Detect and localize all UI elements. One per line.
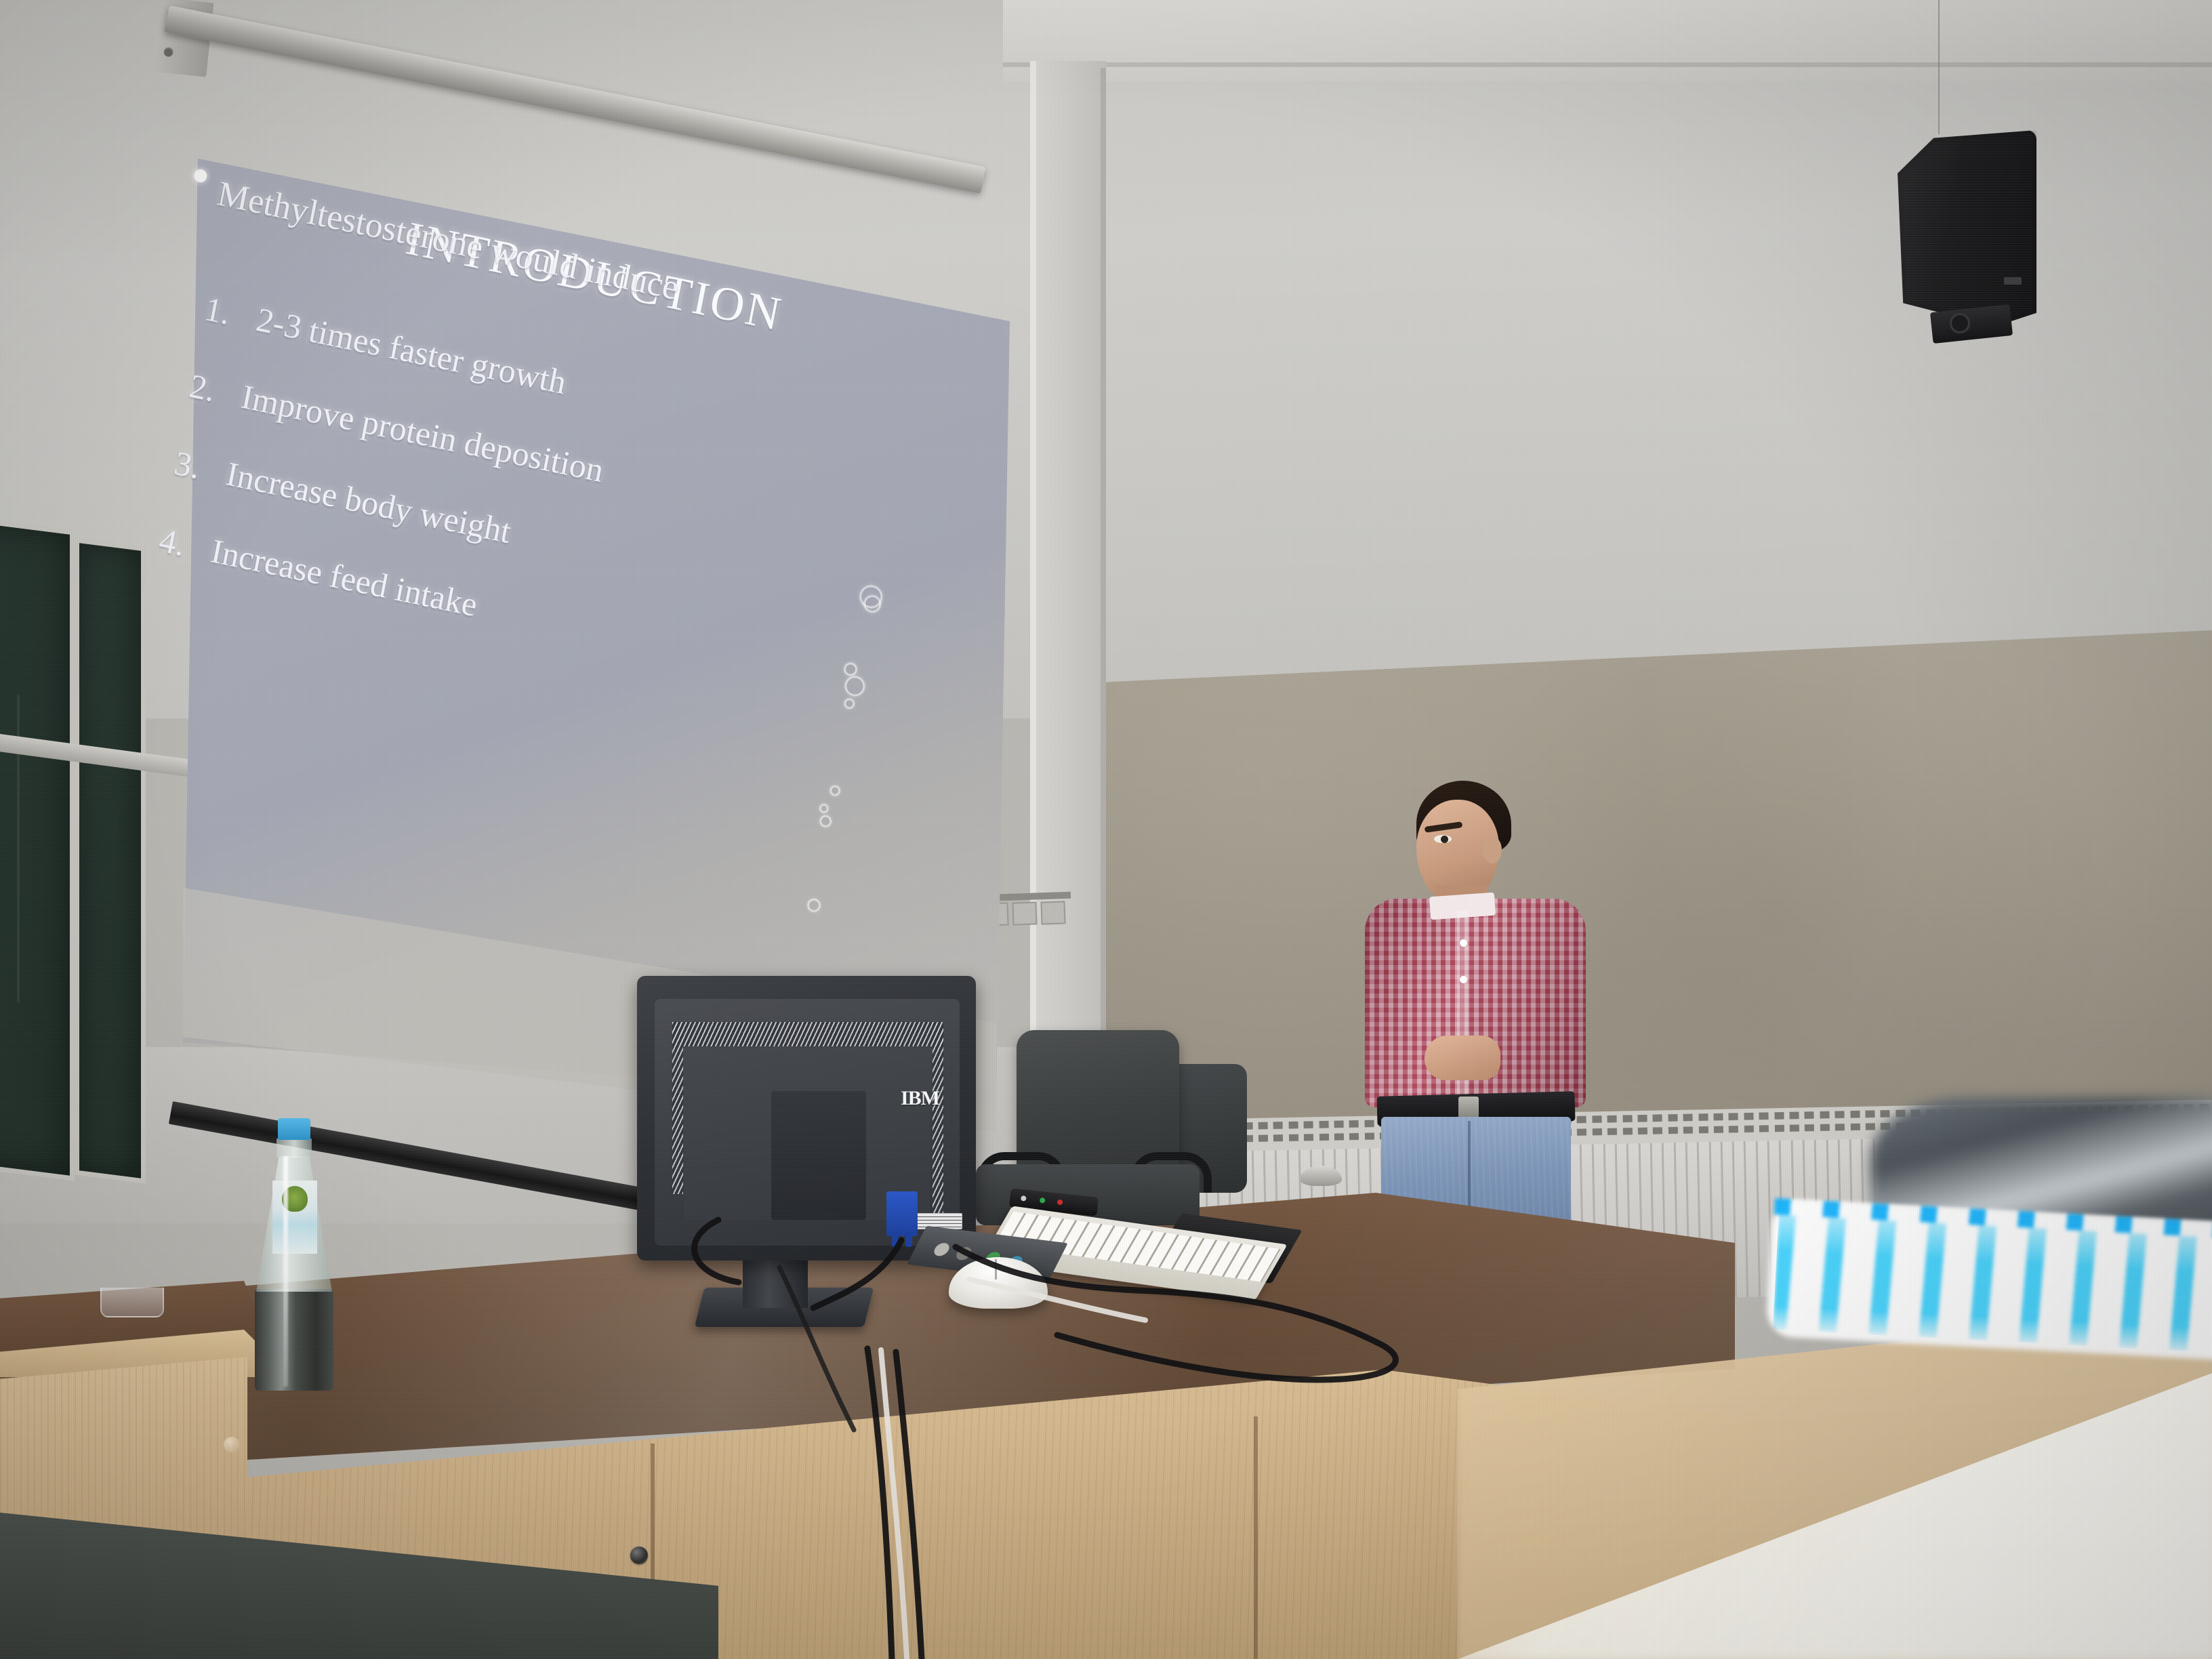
projected-slide: INTRODUCTION Methyltestosterone would in… [49,149,973,1093]
presenter [1315,766,1626,1186]
bottle-body [255,1289,333,1391]
slide-item-number: 4. [156,520,216,569]
wall-outlet-2[interactable] [1012,901,1037,925]
speaker-brand-badge [2004,277,2022,285]
wall-pillar [1030,61,1106,1200]
ibm-logo: IBM [901,1087,939,1110]
mouse-button-split [995,1259,997,1279]
presenter-shirt-button [1460,939,1467,947]
monitor-vent-right [933,1022,943,1221]
monitor-vent-left [672,1022,683,1194]
presenter-shirt-button [1460,976,1467,983]
slide-item-number: 2. [186,366,246,415]
ceiling-strip [1003,0,2212,81]
side-cabinet-knob[interactable] [224,1437,240,1453]
ceiling-wall-joint [1003,62,2212,67]
speaker-mount-knob [1950,313,1970,333]
chalkboard-panel-left [0,513,75,1181]
speaker-cable [1938,0,1940,134]
lecture-hall-photo: INTRODUCTION Methyltestosterone would in… [0,0,2212,1659]
slide-item-text: Increase body weight [223,454,514,550]
slide-numbered-list: 1.2-3 times faster growth 2.Improve prot… [148,289,622,683]
pillar-left-edge [1030,61,1036,1200]
computer-monitor[interactable]: IBM [637,976,976,1261]
presenter-hands [1425,1036,1500,1080]
slide-item-number: 1. [201,289,261,338]
slide-item-text: 2-3 times faster growth [253,300,569,401]
slide-item-text: Increase feed intake [208,531,480,623]
bottle-neck [276,1139,312,1158]
water-bottle [252,1118,335,1389]
slide-item-number: 3. [171,443,231,493]
bottle-cap[interactable] [278,1118,310,1140]
desk-drawer-lock[interactable] [630,1547,648,1564]
vga-connector[interactable] [886,1191,918,1236]
bottle-highlight [283,1156,288,1387]
wall-speaker [1898,130,2036,327]
drinking-glass [100,1288,164,1317]
presenter-pupil [1441,836,1448,843]
desk-panel-seam [1254,1416,1258,1659]
wall-outlet-3[interactable] [1040,901,1065,924]
presenter-ear [1483,836,1502,863]
monitor-stand-plate [771,1091,866,1220]
presenter-belt-buckle [1458,1097,1479,1118]
speaker-grille [1902,134,2032,323]
monitor-vent-top [672,1022,943,1046]
